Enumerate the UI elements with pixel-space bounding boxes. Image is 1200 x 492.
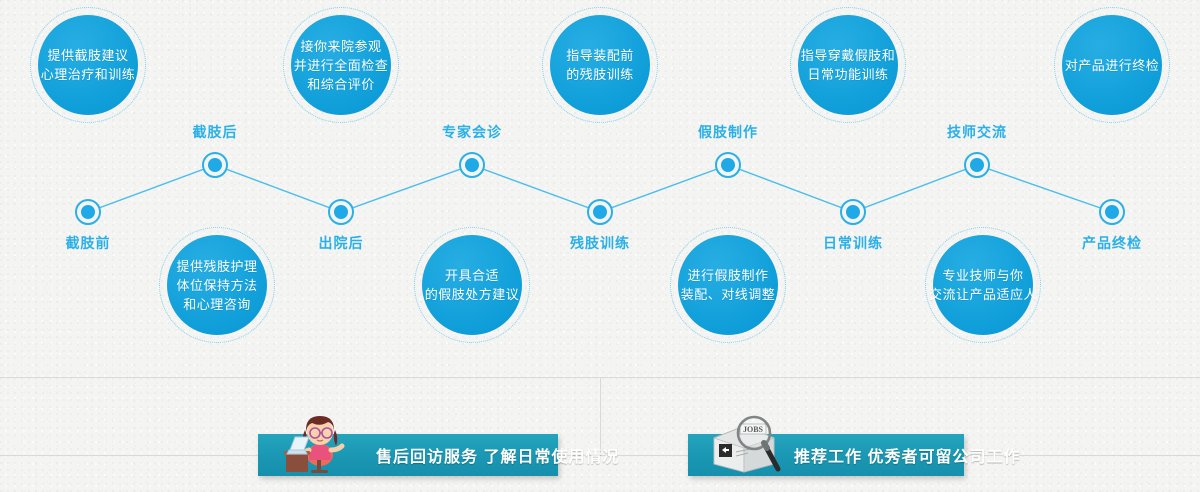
bubble-text: 专业技师与你 交流让产品适应人 — [929, 266, 1037, 304]
bubble-post-discharge[interactable]: 接你来院参观 并进行全面检查 和综合评价 — [283, 7, 399, 123]
node-expert-consult[interactable] — [459, 152, 485, 178]
node-label-expert-consult: 专家会诊 — [414, 122, 530, 142]
node-stump-training[interactable] — [587, 199, 613, 225]
banner-after-sales-followup[interactable]: 售后回访服务 了解日常使用情况 — [258, 434, 558, 476]
banner-label: 推荐工作 优秀者可留公司工作 — [794, 443, 1020, 467]
bubble-pre-amputation[interactable]: 提供截肢建议 心理治疗和训练 — [30, 7, 146, 123]
bubble-text: 进行假肢制作 装配、对线调整 — [681, 266, 776, 304]
bubble-text: 提供截肢建议 心理治疗和训练 — [41, 46, 136, 84]
bubble-stump-training[interactable]: 指导装配前 的残肢训练 — [542, 7, 658, 123]
node-label-prosthesis-make: 假肢制作 — [670, 122, 786, 142]
bubble-text: 提供残肢护理 体位保持方法 和心理咨询 — [176, 257, 257, 314]
bubble-technician-talk[interactable]: 专业技师与你 交流让产品适应人 — [925, 227, 1041, 343]
bubble-post-amputation[interactable]: 提供残肢护理 体位保持方法 和心理咨询 — [159, 227, 275, 343]
node-label-daily-training: 日常训练 — [795, 233, 911, 253]
node-final-inspection[interactable] — [1099, 199, 1125, 225]
banner-label: 售后回访服务 了解日常使用情况 — [376, 443, 619, 467]
woman-at-desk-icon — [284, 408, 352, 476]
flowchart-canvas: 提供截肢建议 心理治疗和训练 提供残肢护理 体位保持方法 和心理咨询 接你来院参… — [0, 0, 1200, 492]
bubble-text: 指导装配前 的残肢训练 — [566, 46, 634, 84]
bubble-daily-training[interactable]: 指导穿戴假肢和 日常功能训练 — [790, 7, 906, 123]
bubble-text: 对产品进行终检 — [1065, 56, 1160, 75]
bubble-final-inspection[interactable]: 对产品进行终检 — [1054, 7, 1170, 123]
node-label-technician-talk: 技师交流 — [919, 122, 1035, 142]
node-post-amputation[interactable] — [202, 152, 228, 178]
node-label-post-discharge: 出院后 — [291, 233, 391, 253]
node-technician-talk[interactable] — [964, 152, 990, 178]
bubble-text: 指导穿戴假肢和 日常功能训练 — [801, 46, 896, 84]
node-daily-training[interactable] — [840, 199, 866, 225]
bubble-prosthesis-make[interactable]: 进行假肢制作 装配、对线调整 — [670, 227, 786, 343]
node-label-stump-training: 残肢训练 — [542, 233, 658, 253]
jobs-magnifier-icon: JOBS — [710, 412, 782, 474]
node-label-post-amputation: 截肢后 — [165, 122, 265, 142]
node-pre-amputation[interactable] — [75, 199, 101, 225]
node-post-discharge[interactable] — [328, 199, 354, 225]
bubble-text: 开具合适 的假肢处方建议 — [425, 266, 520, 304]
bubble-expert-consult[interactable]: 开具合适 的假肢处方建议 — [414, 227, 530, 343]
node-label-final-inspection: 产品终检 — [1054, 233, 1170, 253]
banner-job-recommendation[interactable]: JOBS 推荐工作 优秀者可留公司工作 — [688, 434, 964, 476]
node-prosthesis-make[interactable] — [715, 152, 741, 178]
bubble-text: 接你来院参观 并进行全面检查 和综合评价 — [294, 37, 389, 94]
node-label-pre-amputation: 截肢前 — [38, 233, 138, 253]
